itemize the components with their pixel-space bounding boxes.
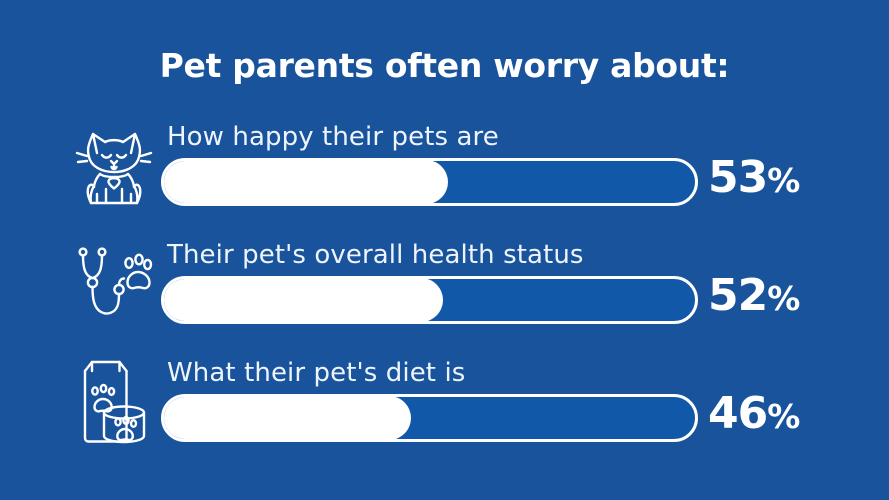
progress-fill <box>163 396 411 440</box>
stat-percentage: 46% <box>708 392 799 436</box>
page-title: Pet parents often worry about: <box>0 46 889 85</box>
stat-percentage: 53% <box>708 156 799 200</box>
stat-percentage-number: 52 <box>708 270 767 321</box>
sitting-cat-icon <box>72 118 156 214</box>
stat-label: Their pet's overall health status <box>167 240 584 270</box>
stat-rows: How happy their pets are 53% <box>0 112 889 466</box>
progress-bar <box>161 394 698 442</box>
progress-track <box>161 158 698 206</box>
stat-percentage-number: 53 <box>708 152 767 203</box>
stat-row: How happy their pets are 53% <box>0 112 889 230</box>
progress-track <box>161 276 698 324</box>
stat-label: What their pet's diet is <box>167 358 465 388</box>
progress-bar <box>161 276 698 324</box>
infographic-canvas: Pet parents often worry about: <box>0 0 889 500</box>
stat-percentage-number: 46 <box>708 388 767 439</box>
progress-fill <box>163 278 443 322</box>
pet-food-bag-can-icon <box>72 354 156 450</box>
stat-percentage: 52% <box>708 274 799 318</box>
stat-row: Their pet's overall health status 52% <box>0 230 889 348</box>
percent-sign: % <box>767 161 799 200</box>
stethoscope-paw-icon <box>72 236 156 332</box>
percent-sign: % <box>767 279 799 318</box>
progress-fill <box>163 160 448 204</box>
stat-label: How happy their pets are <box>167 122 499 152</box>
stat-row: What their pet's diet is 46% <box>0 348 889 466</box>
percent-sign: % <box>767 397 799 436</box>
progress-track <box>161 394 698 442</box>
progress-bar <box>161 158 698 206</box>
